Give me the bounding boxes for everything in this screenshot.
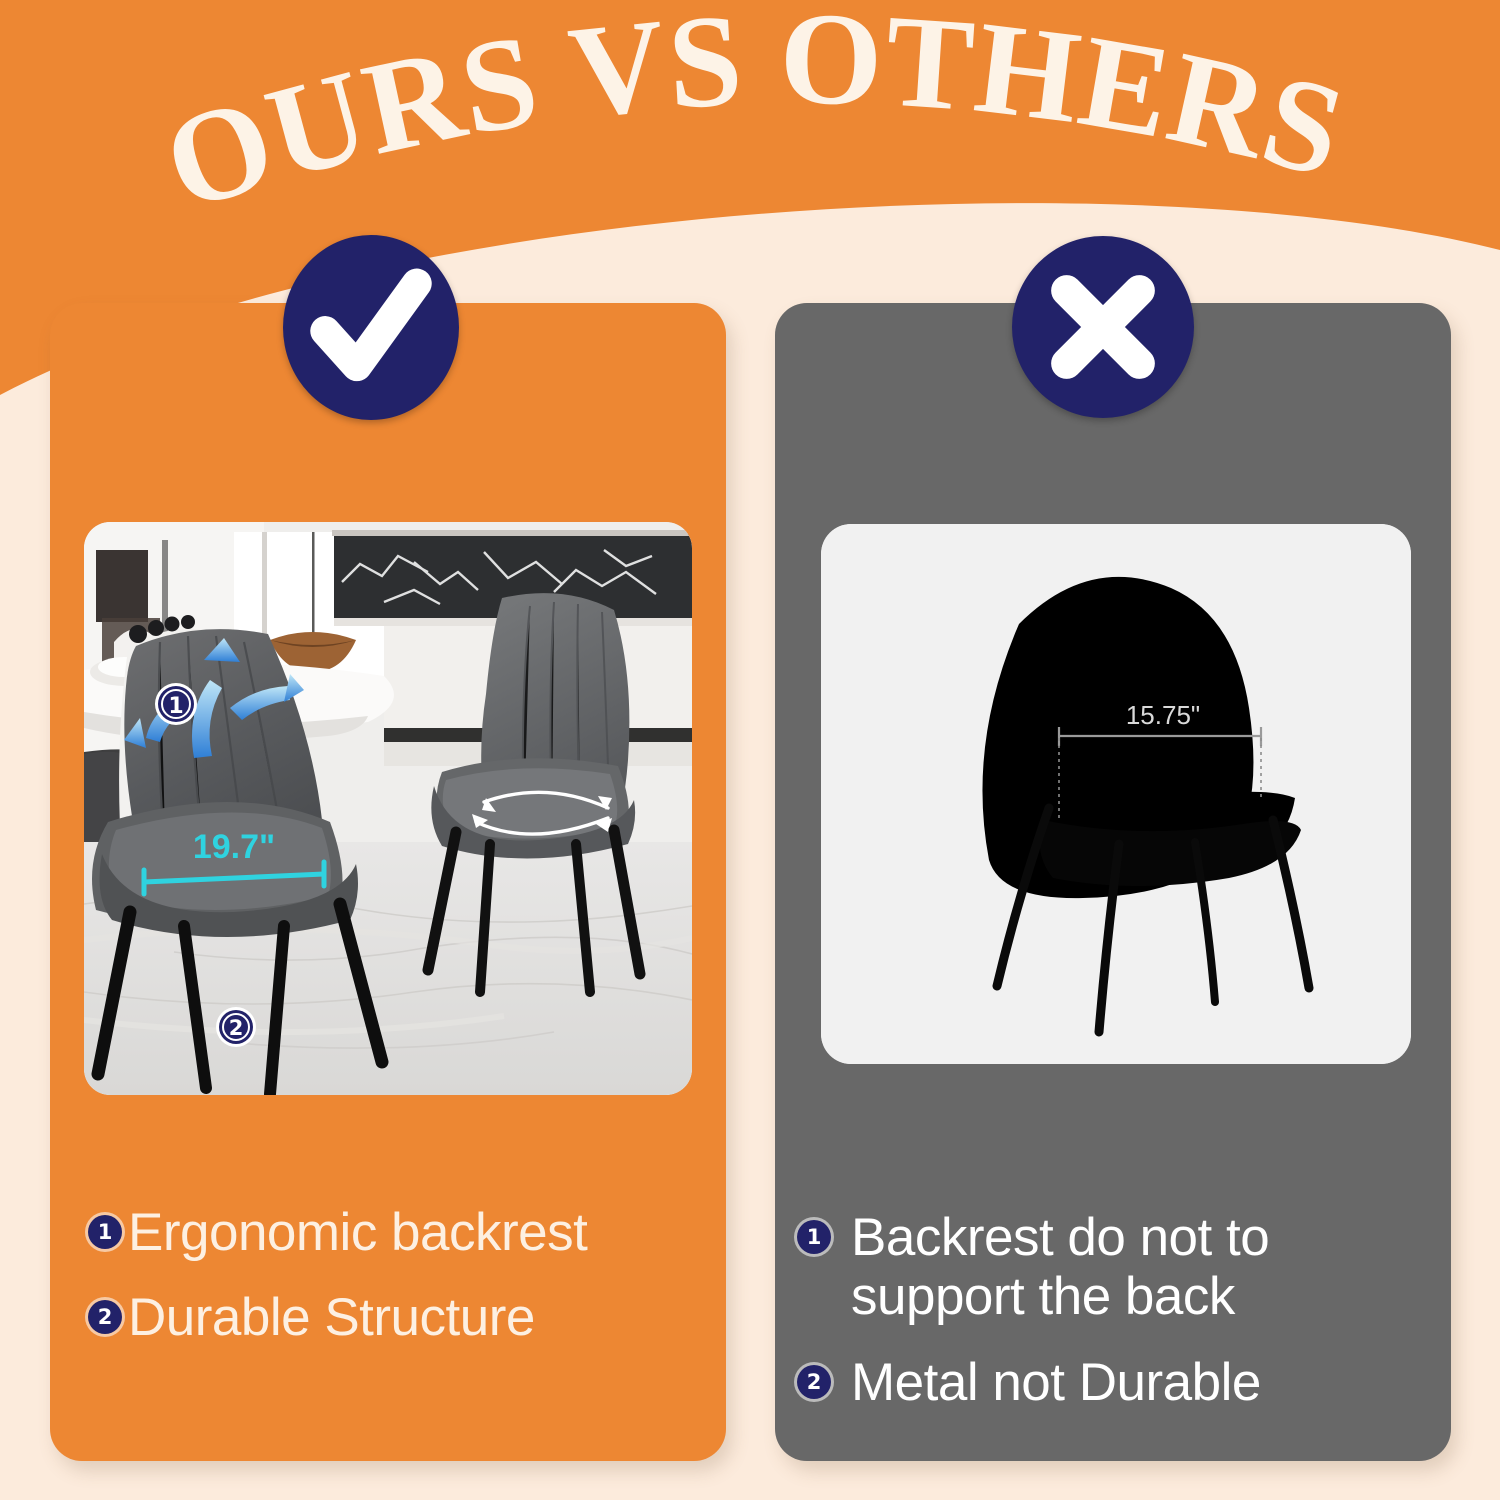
cross-badge — [1012, 236, 1194, 418]
svg-text:1: 1 — [168, 694, 183, 719]
page-title: OURS VS OTHERS — [0, 34, 1500, 214]
feature-label: Ergonomic backrest — [128, 1203, 587, 1262]
feature-number: 1 — [88, 1215, 122, 1249]
list-item: 1 Ergonomic backrest — [88, 1203, 726, 1262]
list-item: 2 Durable Structure — [88, 1288, 726, 1347]
list-item: 2 Metal not Durable — [797, 1353, 1451, 1412]
ours-feature-list: 1 Ergonomic backrest 2 Durable Structure — [50, 1203, 726, 1374]
feature-label: Metal not Durable — [851, 1353, 1261, 1412]
ours-dimension-label: 19.7" — [193, 828, 275, 866]
page-title-text: OURS VS OTHERS — [148, 0, 1359, 239]
panel-others: 15.75" 1 Backrest do not to support the … — [775, 303, 1451, 1461]
feature-number: 2 — [797, 1365, 831, 1399]
ours-callout-2: 2 — [216, 1007, 256, 1047]
feature-label: Backrest do not to support the back — [851, 1208, 1371, 1327]
feature-number: 1 — [797, 1220, 831, 1254]
check-icon — [283, 235, 459, 420]
list-item: 1 Backrest do not to support the back — [797, 1208, 1451, 1327]
check-badge — [283, 235, 459, 420]
feature-number: 2 — [88, 1300, 122, 1334]
feature-label: Durable Structure — [128, 1288, 535, 1347]
close-icon — [1012, 236, 1194, 418]
panel-ours: 19.7" 1 — [50, 303, 726, 1461]
ours-product-photo: 19.7" 1 — [84, 522, 692, 1095]
others-feature-list: 1 Backrest do not to support the back 2 … — [775, 1208, 1451, 1438]
others-product-photo: 15.75" — [821, 524, 1411, 1064]
svg-text:2: 2 — [229, 1016, 244, 1040]
others-dimension-label: 15.75" — [1126, 700, 1200, 730]
ours-callout-1: 1 — [155, 683, 197, 725]
